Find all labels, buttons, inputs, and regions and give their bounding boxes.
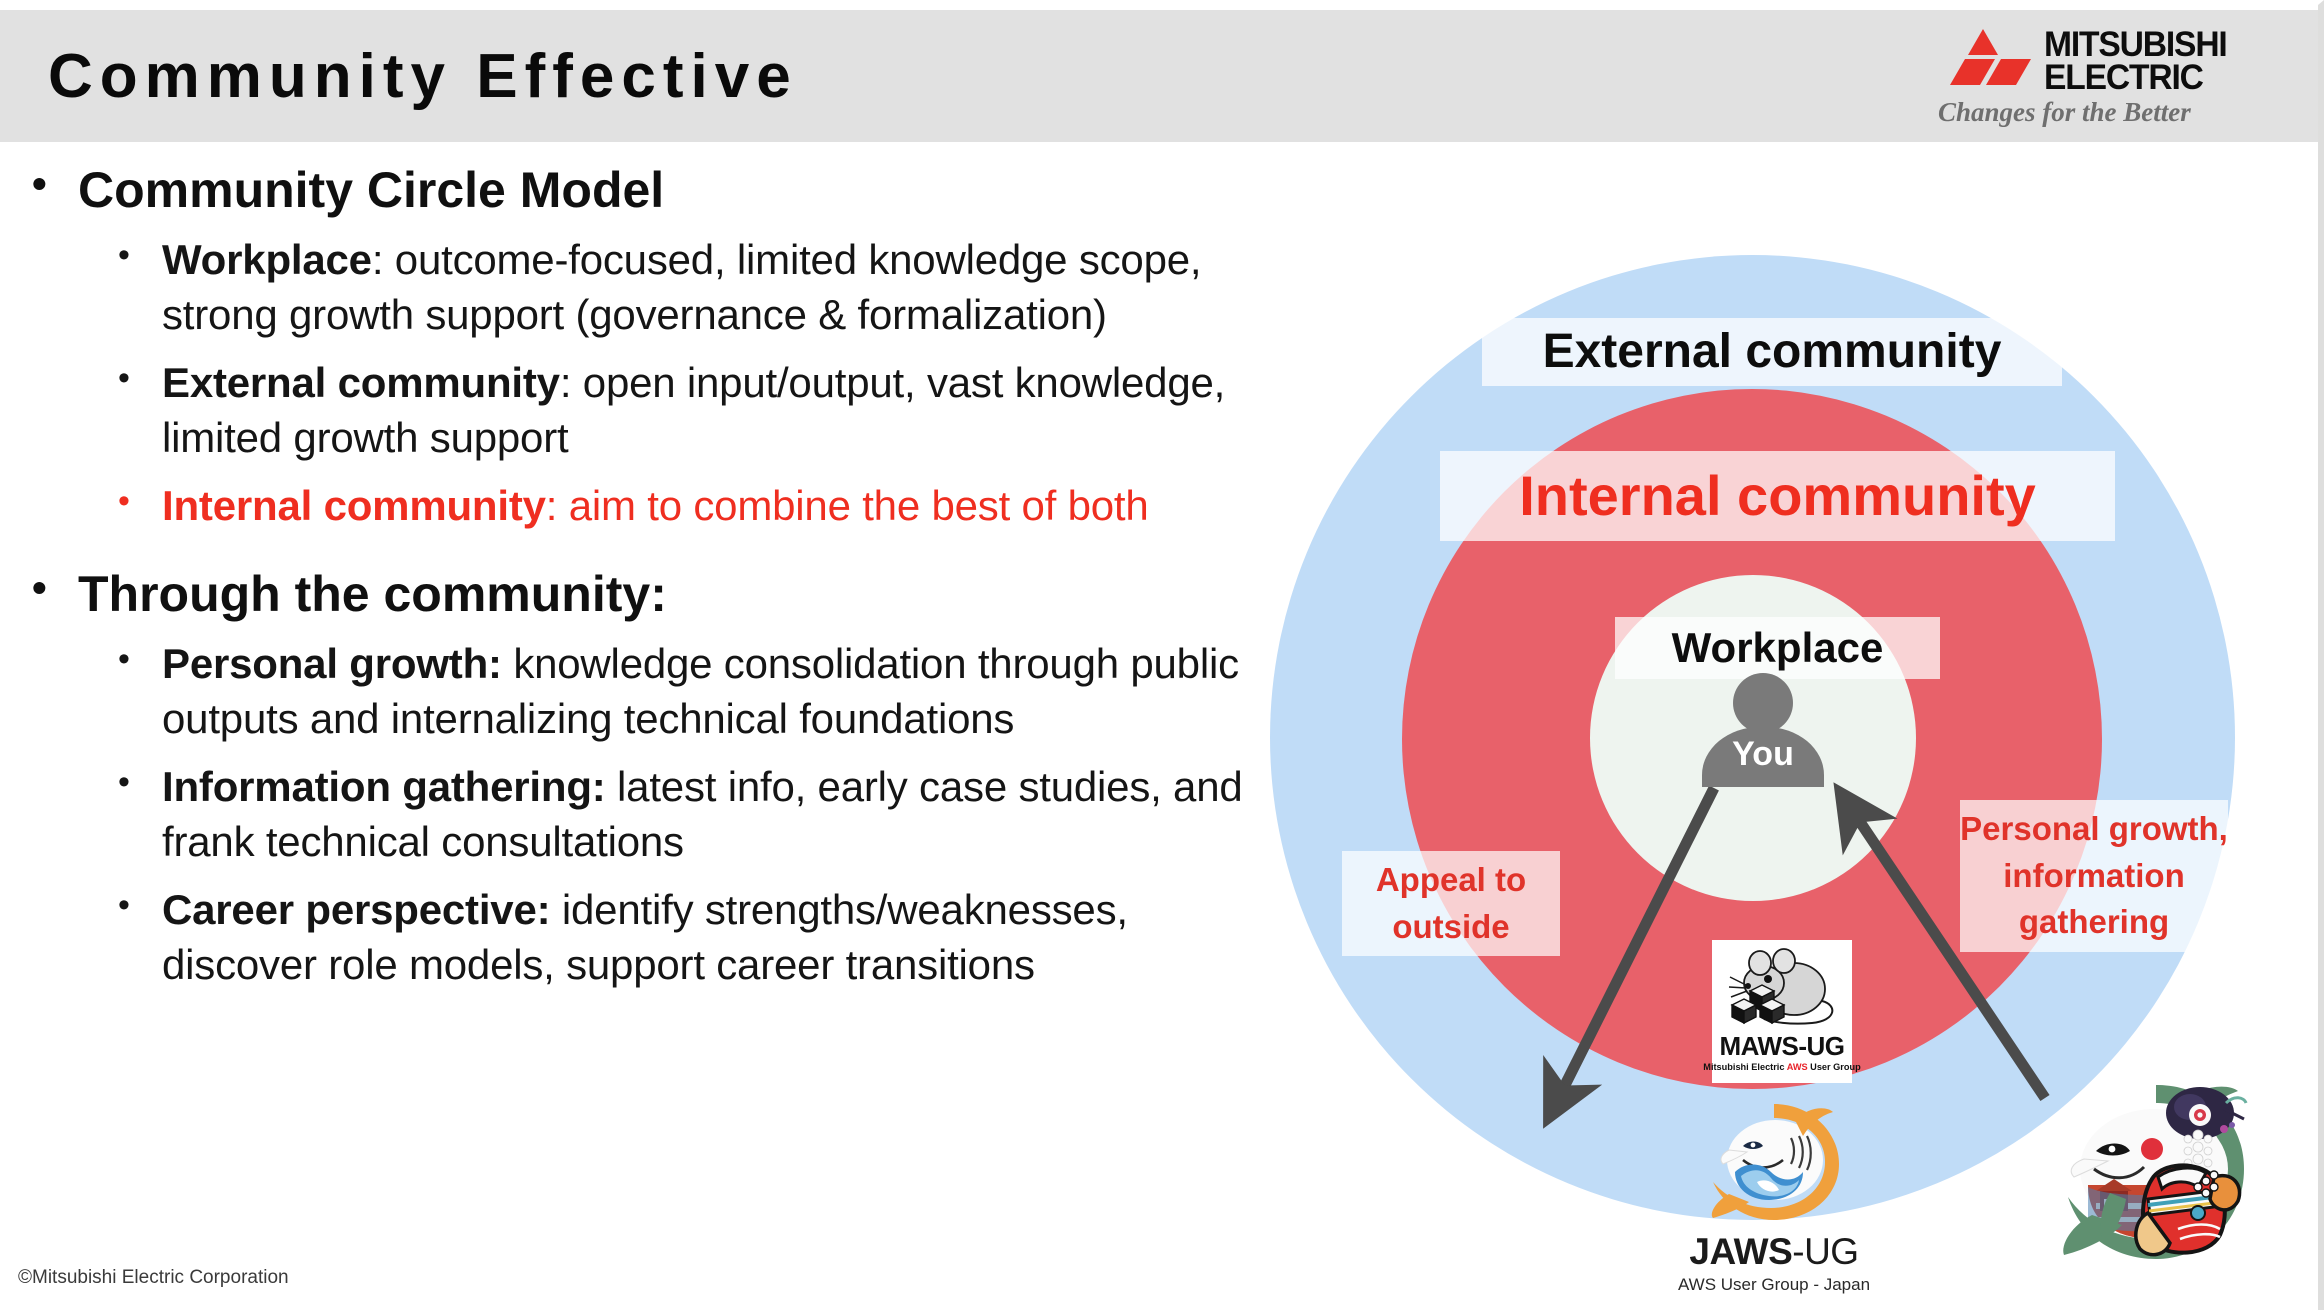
bullet-l2-personal-growth: Personal growth: knowledge consolidation…: [0, 637, 1290, 746]
community-circle-diagram: External community Internal community Wo…: [1250, 243, 2310, 1305]
maws-mouse-icon: [1720, 943, 1844, 1033]
jaws-ug-kimono-shark-logo: 鹊: [2048, 1073, 2263, 1273]
page-title: Community Effective: [48, 41, 798, 112]
maws-ug-name: MAWS-UG: [1719, 1033, 1844, 1059]
callout-line-2: outside: [1342, 904, 1560, 951]
jaws-ug-logo: JAWS-UG AWS User Group - Japan: [1668, 1098, 1880, 1298]
copyright-footer: ©Mitsubishi Electric Corporation: [18, 1267, 289, 1289]
maws-sub-post: User Group: [1808, 1062, 1861, 1072]
label-external-community: External community: [1482, 318, 2062, 386]
bullet-lead: External community: [162, 359, 560, 406]
bullet-lead: Career perspective:: [162, 886, 550, 933]
jaws-name-main: JAWS: [1689, 1231, 1792, 1272]
slide-canvas: Community Effective MITSUBISHI ELECTRIC …: [0, 0, 2324, 1310]
callout-appeal-to-outside: Appeal to outside: [1342, 851, 1560, 956]
callout-line-2: information: [1960, 853, 2228, 900]
jaws-shark-icon: [1699, 1098, 1849, 1226]
maws-ug-subtitle: Mitsubishi Electric AWS User Group: [1703, 1062, 1860, 1072]
jaws-name-suffix: -UG: [1792, 1231, 1858, 1272]
mitsubishi-three-diamond-icon: [1934, 29, 2032, 91]
logo-tagline: Changes for the Better: [1938, 97, 2191, 128]
bullet-l1-through-the-community: Through the community:: [0, 564, 1290, 625]
bullet-rest: : aim to combine the best of both: [546, 482, 1149, 529]
jaws-ug-name: JAWS-UG: [1668, 1233, 1880, 1270]
maws-ug-logo: MAWS-UG Mitsubishi Electric AWS User Gro…: [1712, 940, 1852, 1083]
bullet-l1-community-circle-model: Community Circle Model: [0, 160, 1290, 221]
bullet-lead: Workplace: [162, 236, 372, 283]
person-you-icon: You: [1702, 673, 1824, 795]
jaws-ug-subtitle: AWS User Group - Japan: [1668, 1275, 1880, 1295]
mitsubishi-electric-wordmark: MITSUBISHI ELECTRIC: [2044, 29, 2234, 95]
callout-line-3: gathering: [1960, 899, 2228, 946]
person-label-you: You: [1702, 735, 1824, 774]
maws-sub-aws: AWS: [1787, 1062, 1808, 1072]
mitsubishi-electric-logo: MITSUBISHI ELECTRIC Changes for the Bett…: [1934, 21, 2294, 129]
bullet-l2-external-community: External community: open input/output, v…: [0, 356, 1290, 465]
callout-line-1: Appeal to: [1342, 857, 1560, 904]
bullet-l2-workplace: Workplace: outcome-focused, limited know…: [0, 233, 1290, 342]
maws-sub-pre: Mitsubishi Electric: [1703, 1062, 1786, 1072]
bullet-lead: Personal growth:: [162, 640, 502, 687]
kimono-shark-icon: 鹊: [2048, 1073, 2263, 1273]
bullet-lead: Information gathering:: [162, 763, 606, 810]
bullet-list: Community Circle Model Workplace: outcom…: [0, 160, 1290, 1007]
label-workplace: Workplace: [1615, 617, 1940, 679]
callout-line-1: Personal growth,: [1960, 806, 2228, 853]
bullet-lead: Internal community: [162, 482, 546, 529]
callout-personal-growth-information-gathering: Personal growth, information gathering: [1960, 800, 2228, 952]
person-head-icon: [1733, 673, 1793, 733]
bullet-l2-career-perspective: Career perspective: identify strengths/w…: [0, 883, 1290, 992]
bullet-l2-information-gathering: Information gathering: latest info, earl…: [0, 760, 1290, 869]
bullet-l2-internal-community: Internal community: aim to combine the b…: [0, 479, 1290, 534]
logo-line-electric: ELECTRIC: [2044, 62, 2227, 95]
label-internal-community: Internal community: [1440, 451, 2115, 541]
